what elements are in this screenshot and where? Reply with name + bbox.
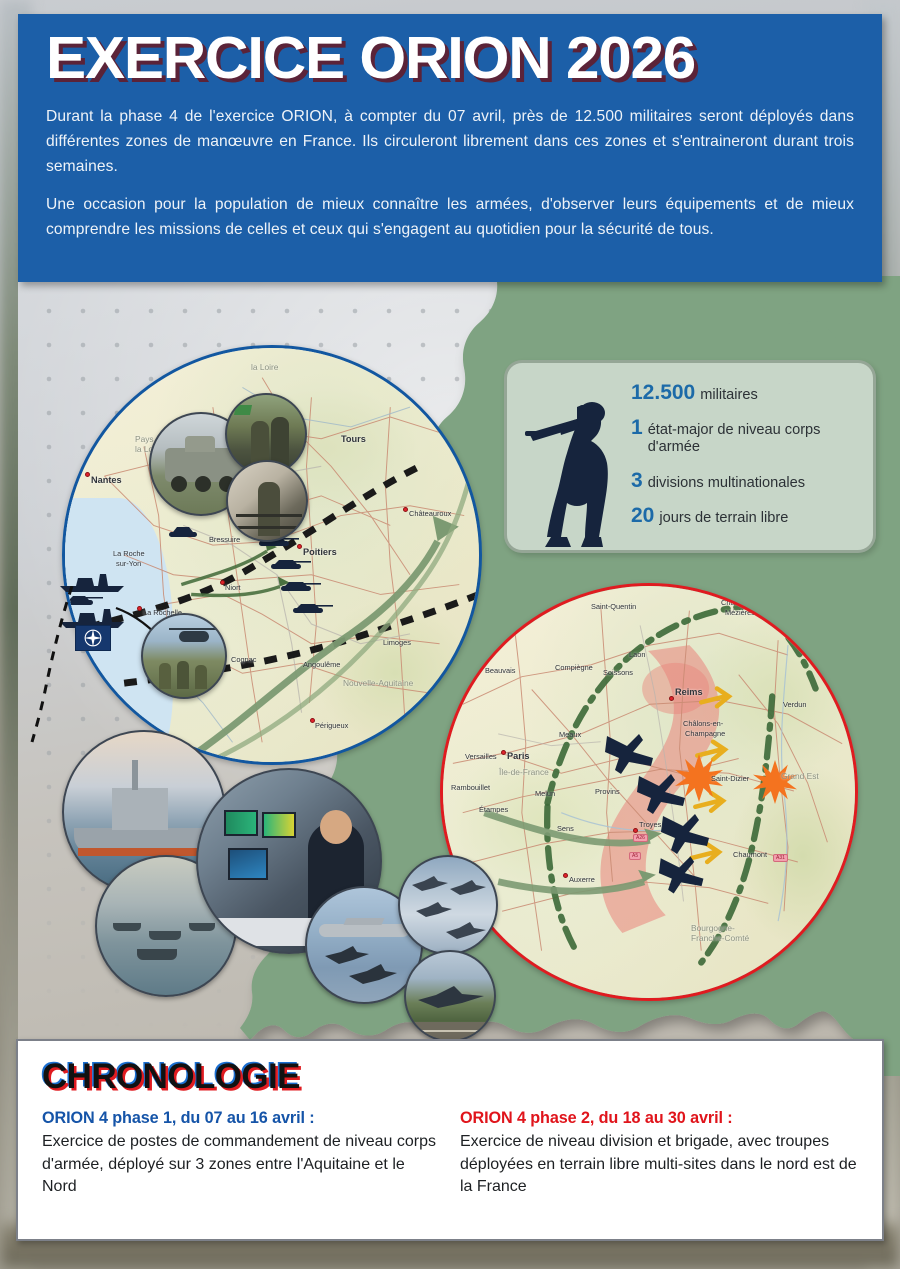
city-label: la Loire — [251, 362, 278, 372]
city-label: Verdun — [783, 700, 806, 709]
city-label: Cognac — [231, 655, 256, 664]
city-marker-troyes — [633, 828, 638, 833]
chronology-heading: ORION 4 phase 2, du 18 au 30 avril : — [460, 1109, 858, 1128]
soldier-1 — [159, 663, 171, 689]
runway-line — [406, 1030, 496, 1032]
city-label: Compiègne — [555, 663, 593, 672]
road-badge-a10: A10 — [65, 348, 80, 356]
city-label: Chaumont — [733, 850, 767, 859]
city-label: Charleville- — [721, 598, 758, 607]
screen-3 — [228, 848, 268, 880]
ship-superstructure — [112, 788, 168, 830]
dashed-connector-line — [28, 586, 88, 746]
city-label: Sens — [557, 824, 574, 833]
city-marker-chateauroux — [403, 507, 408, 512]
stat-label: militaires — [700, 387, 758, 404]
flag-accent — [234, 405, 252, 415]
stat-item-divisions: 3 divisions multinationales — [631, 469, 875, 493]
city-label: Angoulême — [303, 660, 340, 669]
wheel-2 — [195, 476, 211, 492]
city-label: Soissons — [603, 668, 633, 677]
city-marker-paris — [501, 750, 506, 755]
stat-label: jours de terrain libre — [659, 510, 788, 527]
railing — [236, 514, 302, 517]
city-label: Tours — [341, 434, 366, 444]
stat-number: 1 — [631, 416, 643, 440]
city-label: Auxerre — [569, 875, 595, 884]
city-label: Troyes — [639, 820, 661, 829]
city-label: sur-Yon — [116, 559, 141, 568]
photo-helicopter-troops[interactable] — [141, 613, 227, 699]
fleet-ship-1 — [113, 923, 141, 931]
road-badge-a5: A5 — [629, 852, 641, 860]
city-label: Limoges — [383, 638, 411, 647]
photo-rafale-takeoff[interactable] — [404, 950, 496, 1042]
vehicle-turret — [185, 436, 215, 452]
city-label: Nantes — [91, 475, 122, 485]
soldier-silhouette-icon — [515, 389, 637, 549]
tank-icon-5 — [165, 524, 209, 540]
rafale-2 — [448, 879, 488, 897]
city-label: Saint-Dizier — [711, 774, 749, 783]
header-banner: EXERCICE ORION 2026 Durant la phase 4 de… — [18, 14, 882, 282]
city-label: Étampes — [479, 805, 508, 814]
stat-label: divisions multinationales — [648, 475, 805, 492]
city-label: Franche-Comté — [691, 933, 749, 943]
tank-icon-4 — [291, 600, 335, 616]
city-label: Poitiers — [303, 547, 337, 557]
stat-number: 20 — [631, 504, 654, 528]
stat-number: 3 — [631, 469, 643, 493]
chronology-body: Exercice de niveau division et brigade, … — [460, 1131, 858, 1199]
chronology-heading: ORION 4 phase 1, du 07 au 16 avril : — [42, 1109, 440, 1128]
road-badge-a31: A31 — [773, 854, 788, 862]
soldier-2 — [177, 661, 189, 689]
operator-head — [320, 810, 352, 844]
city-marker-reims — [669, 696, 674, 701]
chronology-column-phase1: ORION 4 phase 1, du 07 au 16 avril : Exe… — [42, 1109, 440, 1199]
header-paragraph-1: Durant la phase 4 de l'exercice ORION, à… — [46, 105, 854, 179]
city-label: Châlons-en- — [683, 719, 723, 728]
tank-icon-2 — [269, 556, 313, 572]
city-label: Melun — [535, 789, 555, 798]
city-label: Mézières — [725, 608, 755, 617]
city-label: Champagne — [685, 729, 725, 738]
ship-waterline — [78, 848, 214, 856]
fighter-jet-icon-3 — [659, 810, 715, 856]
ship-mast — [132, 760, 138, 790]
city-label: Saint-Quentin — [591, 602, 636, 611]
city-label: Reims — [675, 687, 703, 697]
city-label: Bourgogne- — [691, 923, 735, 933]
stat-item-militaires: 12.500 militaires — [631, 381, 875, 405]
city-marker-auxerre — [563, 873, 568, 878]
map-circle-northeast[interactable]: A26 A5 A31 Saint-QuentinCharleville-Mézi… — [440, 583, 858, 1001]
stats-list: 12.500 militaires 1 état-major de niveau… — [631, 381, 875, 539]
city-label: La Roche — [113, 549, 145, 558]
helicopter-body — [179, 631, 209, 642]
city-label: Nouvelle-Aquitaine — [343, 678, 413, 688]
city-label: Châteauroux — [409, 509, 451, 518]
chronology-body: Exercice de postes de commandement de ni… — [42, 1131, 440, 1199]
tanker-fuselage — [319, 924, 409, 937]
city-label: Grand Est — [781, 771, 819, 781]
city-label: Périgueux — [315, 721, 348, 730]
stat-item-jours: 20 jours de terrain libre — [631, 504, 875, 528]
city-label: Paris — [507, 751, 529, 761]
fleet-ship-2 — [149, 931, 181, 940]
stat-item-etat-major: 1 état-major de niveau corps d'armée — [631, 416, 875, 456]
photo-rafale-formation[interactable] — [398, 855, 498, 955]
city-label: Île-de-France — [499, 767, 549, 777]
wheel-1 — [171, 476, 187, 492]
rafale-3 — [414, 901, 454, 919]
city-label: Niort — [225, 583, 241, 592]
city-marker-poitiers — [297, 544, 302, 549]
city-label: Versailles — [465, 752, 497, 761]
tanker-wing — [343, 918, 384, 925]
city-label: Rambouillet — [451, 783, 490, 792]
city-label: Meaux — [559, 730, 581, 739]
page-title: EXERCICE ORION 2026 — [46, 28, 870, 89]
fleet-ship-4 — [137, 949, 177, 960]
city-marker-nantes — [85, 472, 90, 477]
chronology-column-phase2: ORION 4 phase 2, du 18 au 30 avril : Exe… — [460, 1109, 858, 1199]
stats-card: 12.500 militaires 1 état-major de niveau… — [504, 360, 876, 553]
jet-silhouette-2 — [347, 962, 399, 986]
city-label: Laon — [629, 650, 645, 659]
tank-icon-3 — [279, 578, 323, 594]
rafale-takeoff-silhouette — [416, 982, 488, 1010]
photo-soldier-urban[interactable] — [226, 460, 308, 542]
screen-2 — [262, 812, 296, 838]
chronology-panel: CHRONOLOGIE ORION 4 phase 1, du 07 au 16… — [16, 1039, 884, 1241]
road-badge-a26: A26 — [633, 834, 648, 842]
stat-label: état-major de niveau corps d'armée — [648, 422, 828, 456]
rafale-1 — [410, 875, 450, 893]
city-label: Beauvais — [485, 666, 515, 675]
screen-1 — [224, 810, 258, 836]
explosion-star-icon-2 — [753, 760, 797, 804]
rafale-4 — [444, 921, 488, 941]
chronology-columns: ORION 4 phase 1, du 07 au 16 avril : Exe… — [42, 1109, 858, 1199]
city-label: Bressuire — [209, 535, 240, 544]
stat-number: 12.500 — [631, 381, 695, 405]
fighter-jet-icon-4 — [657, 852, 709, 896]
city-label: Provins — [595, 787, 620, 796]
header-paragraph-2: Une occasion pour la population de mieux… — [46, 193, 854, 242]
soldier-3 — [195, 665, 207, 689]
rotor-blade — [169, 628, 221, 630]
chronology-title: CHRONOLOGIE — [42, 1057, 858, 1097]
railing-2 — [236, 526, 302, 529]
